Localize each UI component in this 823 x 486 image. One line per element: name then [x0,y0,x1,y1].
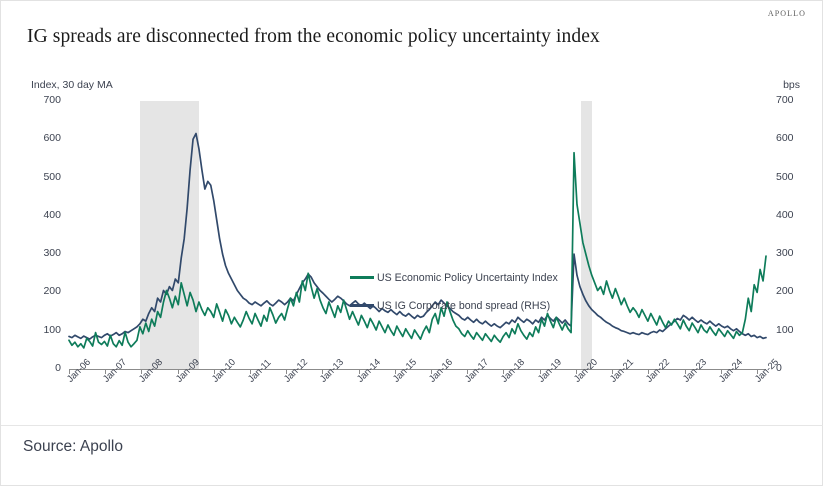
right-axis-tick-400: 400 [776,210,810,221]
chart-page: APOLLO IG spreads are disconnected from … [0,0,823,486]
plot-area: US Economic Policy Uncertainty Index US … [69,101,766,369]
left-axis-tick-0: 0 [27,363,61,374]
legend-swatch-navy [350,304,374,307]
right-axis-tick-700: 700 [776,95,810,106]
right-axis-tick-500: 500 [776,172,810,183]
left-axis-tick-100: 100 [27,325,61,336]
chart-canvas: 0100200300400500600700 01002003004005006… [1,1,823,421]
left-axis-tick-700: 700 [27,95,61,106]
legend-label-epu: US Economic Policy Uncertainty Index [377,272,558,284]
left-axis-tick-400: 400 [27,210,61,221]
right-axis-tick-300: 300 [776,248,810,259]
right-axis-tick-200: 200 [776,286,810,297]
left-axis-tick-300: 300 [27,248,61,259]
chart-legend: US Economic Policy Uncertainty Index US … [350,271,558,327]
footer-divider [1,425,823,426]
legend-swatch-green [350,276,374,279]
right-axis-tick-600: 600 [776,133,810,144]
legend-item-ig-spread: US IG Corporate bond spread (RHS) [350,299,558,312]
right-axis-tick-0: 0 [776,363,810,374]
left-axis-tick-600: 600 [27,133,61,144]
left-axis-tick-200: 200 [27,286,61,297]
legend-label-ig-spread: US IG Corporate bond spread (RHS) [377,300,550,312]
right-axis-tick-100: 100 [776,325,810,336]
legend-item-epu: US Economic Policy Uncertainty Index [350,271,558,284]
series-lines [69,101,766,369]
left-axis-tick-500: 500 [27,172,61,183]
source-note: Source: Apollo [23,438,123,456]
